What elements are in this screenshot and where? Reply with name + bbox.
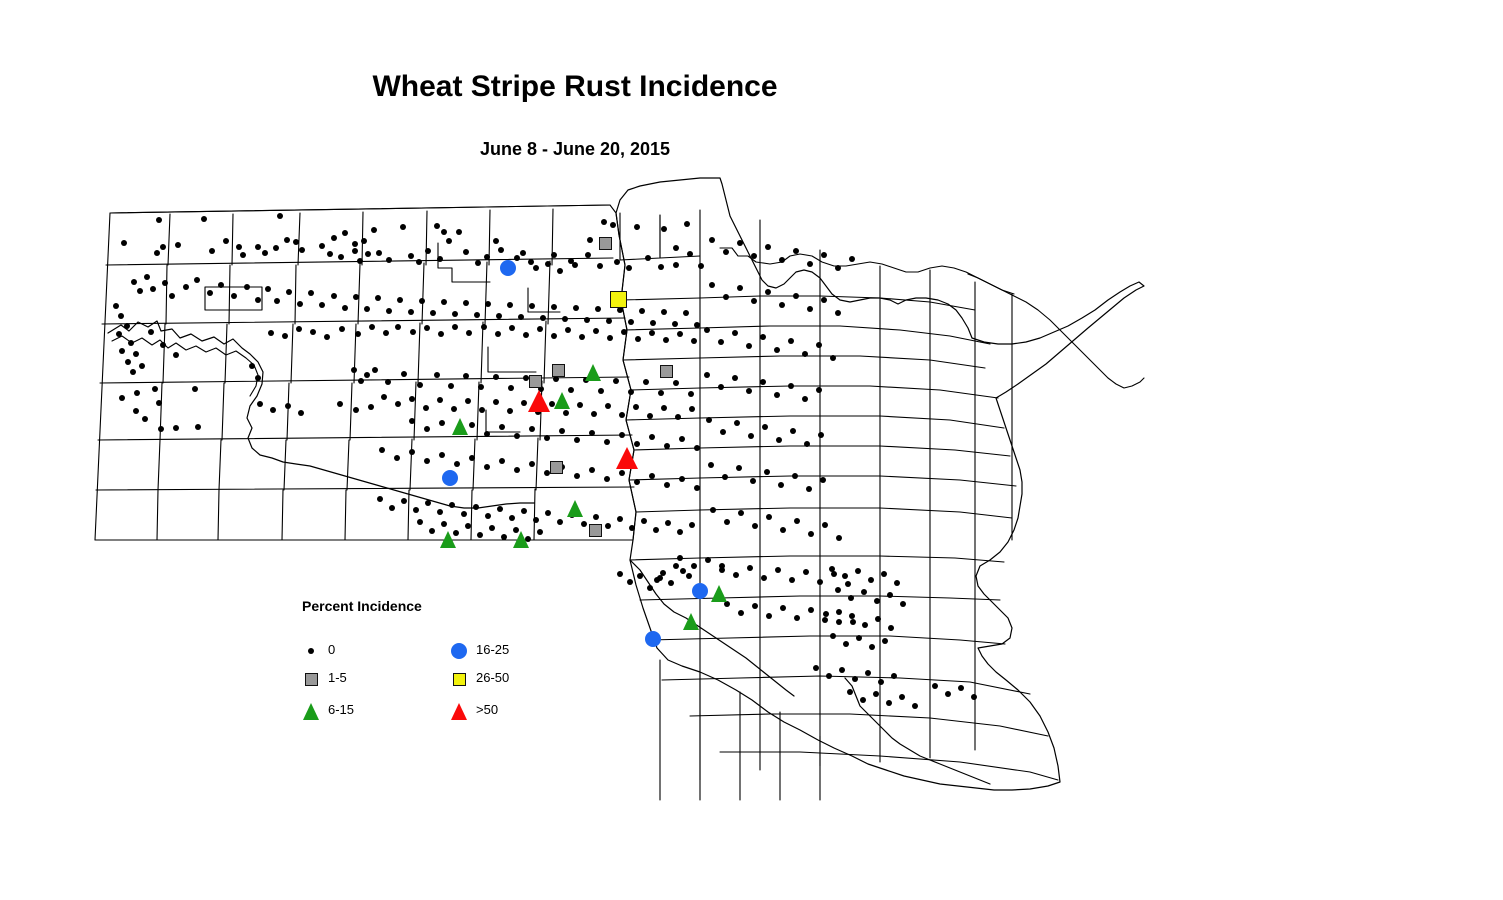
incidence-point-zero[interactable] xyxy=(619,432,625,438)
incidence-point-zero[interactable] xyxy=(891,673,897,679)
incidence-point-zero[interactable] xyxy=(595,306,601,312)
incidence-point-zero[interactable] xyxy=(589,430,595,436)
incidence-point-zero[interactable] xyxy=(788,383,794,389)
incidence-point-zero[interactable] xyxy=(265,286,271,292)
incidence-point-zero[interactable] xyxy=(765,289,771,295)
incidence-point-zero[interactable] xyxy=(463,249,469,255)
incidence-point-zero[interactable] xyxy=(752,523,758,529)
incidence-point-zero[interactable] xyxy=(847,689,853,695)
incidence-point-zero[interactable] xyxy=(776,437,782,443)
incidence-point-zero[interactable] xyxy=(327,251,333,257)
incidence-point-zero[interactable] xyxy=(268,330,274,336)
incidence-point-zero[interactable] xyxy=(593,514,599,520)
incidence-point-zero[interactable] xyxy=(353,407,359,413)
incidence-point-zero[interactable] xyxy=(822,617,828,623)
incidence-point-zero[interactable] xyxy=(900,601,906,607)
incidence-marker-1-5-icon[interactable] xyxy=(550,461,563,474)
incidence-point-zero[interactable] xyxy=(720,429,726,435)
incidence-point-zero[interactable] xyxy=(255,244,261,250)
incidence-marker-1-5-icon[interactable] xyxy=(589,524,602,537)
incidence-point-zero[interactable] xyxy=(689,406,695,412)
incidence-point-zero[interactable] xyxy=(849,256,855,262)
incidence-point-zero[interactable] xyxy=(400,224,406,230)
incidence-point-zero[interactable] xyxy=(381,394,387,400)
incidence-point-zero[interactable] xyxy=(591,411,597,417)
incidence-point-zero[interactable] xyxy=(160,342,166,348)
incidence-point-zero[interactable] xyxy=(419,298,425,304)
incidence-point-zero[interactable] xyxy=(417,519,423,525)
incidence-point-zero[interactable] xyxy=(836,609,842,615)
incidence-point-zero[interactable] xyxy=(873,691,879,697)
incidence-point-zero[interactable] xyxy=(156,217,162,223)
incidence-marker-6-15-icon[interactable] xyxy=(711,585,727,602)
incidence-point-zero[interactable] xyxy=(605,403,611,409)
incidence-point-zero[interactable] xyxy=(888,625,894,631)
incidence-point-zero[interactable] xyxy=(409,396,415,402)
incidence-point-zero[interactable] xyxy=(389,505,395,511)
incidence-point-zero[interactable] xyxy=(606,318,612,324)
incidence-point-zero[interactable] xyxy=(401,498,407,504)
incidence-point-zero[interactable] xyxy=(601,219,607,225)
incidence-point-zero[interactable] xyxy=(514,467,520,473)
incidence-point-zero[interactable] xyxy=(262,250,268,256)
incidence-point-zero[interactable] xyxy=(672,321,678,327)
incidence-point-zero[interactable] xyxy=(807,261,813,267)
incidence-point-zero[interactable] xyxy=(664,482,670,488)
incidence-point-zero[interactable] xyxy=(738,610,744,616)
incidence-point-zero[interactable] xyxy=(686,573,692,579)
incidence-point-zero[interactable] xyxy=(424,426,430,432)
incidence-point-zero[interactable] xyxy=(843,641,849,647)
incidence-point-zero[interactable] xyxy=(429,528,435,534)
incidence-marker-1-5-icon[interactable] xyxy=(552,364,565,377)
incidence-point-zero[interactable] xyxy=(376,250,382,256)
incidence-point-zero[interactable] xyxy=(807,306,813,312)
incidence-point-zero[interactable] xyxy=(680,568,686,574)
incidence-point-zero[interactable] xyxy=(553,376,559,382)
incidence-point-zero[interactable] xyxy=(780,527,786,533)
incidence-point-zero[interactable] xyxy=(645,255,651,261)
incidence-point-zero[interactable] xyxy=(514,255,520,261)
incidence-point-zero[interactable] xyxy=(131,279,137,285)
incidence-point-zero[interactable] xyxy=(121,240,127,246)
incidence-point-zero[interactable] xyxy=(684,221,690,227)
incidence-marker-16-25-icon[interactable] xyxy=(692,583,708,599)
incidence-point-zero[interactable] xyxy=(653,527,659,533)
incidence-point-zero[interactable] xyxy=(441,229,447,235)
incidence-point-zero[interactable] xyxy=(173,352,179,358)
incidence-point-zero[interactable] xyxy=(342,230,348,236)
incidence-point-zero[interactable] xyxy=(551,304,557,310)
incidence-point-zero[interactable] xyxy=(657,575,663,581)
incidence-point-zero[interactable] xyxy=(449,502,455,508)
incidence-point-zero[interactable] xyxy=(401,371,407,377)
incidence-point-zero[interactable] xyxy=(793,248,799,254)
incidence-point-zero[interactable] xyxy=(709,237,715,243)
incidence-point-zero[interactable] xyxy=(385,379,391,385)
incidence-point-zero[interactable] xyxy=(310,329,316,335)
incidence-point-zero[interactable] xyxy=(878,679,884,685)
incidence-point-zero[interactable] xyxy=(694,485,700,491)
legend-entry-1-5[interactable]: 1-5 xyxy=(298,666,438,692)
incidence-point-zero[interactable] xyxy=(173,425,179,431)
incidence-point-zero[interactable] xyxy=(417,382,423,388)
incidence-point-zero[interactable] xyxy=(371,227,377,233)
incidence-point-zero[interactable] xyxy=(780,605,786,611)
incidence-point-zero[interactable] xyxy=(861,589,867,595)
incidence-point-zero[interactable] xyxy=(751,253,757,259)
incidence-point-zero[interactable] xyxy=(604,439,610,445)
incidence-point-zero[interactable] xyxy=(639,308,645,314)
incidence-point-zero[interactable] xyxy=(416,259,422,265)
incidence-point-zero[interactable] xyxy=(687,251,693,257)
incidence-point-zero[interactable] xyxy=(331,235,337,241)
incidence-marker-16-25-icon[interactable] xyxy=(645,631,661,647)
incidence-point-zero[interactable] xyxy=(899,694,905,700)
incidence-point-zero[interactable] xyxy=(244,284,250,290)
incidence-point-zero[interactable] xyxy=(119,348,125,354)
incidence-point-zero[interactable] xyxy=(842,573,848,579)
incidence-point-zero[interactable] xyxy=(836,619,842,625)
incidence-point-zero[interactable] xyxy=(734,420,740,426)
incidence-point-zero[interactable] xyxy=(629,525,635,531)
incidence-point-zero[interactable] xyxy=(746,343,752,349)
incidence-point-zero[interactable] xyxy=(573,305,579,311)
incidence-point-zero[interactable] xyxy=(665,520,671,526)
incidence-point-zero[interactable] xyxy=(557,268,563,274)
incidence-point-zero[interactable] xyxy=(528,259,534,265)
incidence-point-zero[interactable] xyxy=(705,557,711,563)
incidence-point-zero[interactable] xyxy=(658,264,664,270)
incidence-point-zero[interactable] xyxy=(319,302,325,308)
incidence-point-zero[interactable] xyxy=(822,522,828,528)
incidence-point-zero[interactable] xyxy=(855,568,861,574)
incidence-point-zero[interactable] xyxy=(945,691,951,697)
incidence-point-zero[interactable] xyxy=(849,613,855,619)
incidence-point-zero[interactable] xyxy=(587,237,593,243)
incidence-point-zero[interactable] xyxy=(661,405,667,411)
incidence-point-zero[interactable] xyxy=(732,375,738,381)
incidence-point-zero[interactable] xyxy=(499,458,505,464)
incidence-point-zero[interactable] xyxy=(394,455,400,461)
incidence-point-zero[interactable] xyxy=(718,384,724,390)
incidence-point-zero[interactable] xyxy=(673,380,679,386)
incidence-point-zero[interactable] xyxy=(641,518,647,524)
incidence-point-zero[interactable] xyxy=(544,435,550,441)
incidence-point-zero[interactable] xyxy=(139,363,145,369)
incidence-point-zero[interactable] xyxy=(574,473,580,479)
incidence-point-zero[interactable] xyxy=(679,476,685,482)
incidence-point-zero[interactable] xyxy=(633,404,639,410)
incidence-point-zero[interactable] xyxy=(808,531,814,537)
incidence-point-zero[interactable] xyxy=(732,330,738,336)
incidence-point-zero[interactable] xyxy=(162,280,168,286)
incidence-point-zero[interactable] xyxy=(337,401,343,407)
incidence-point-zero[interactable] xyxy=(852,676,858,682)
incidence-point-zero[interactable] xyxy=(423,405,429,411)
incidence-point-zero[interactable] xyxy=(282,333,288,339)
incidence-point-zero[interactable] xyxy=(361,238,367,244)
incidence-point-zero[interactable] xyxy=(257,401,263,407)
incidence-point-zero[interactable] xyxy=(823,611,829,617)
incidence-point-zero[interactable] xyxy=(507,408,513,414)
incidence-point-zero[interactable] xyxy=(379,447,385,453)
incidence-point-zero[interactable] xyxy=(820,477,826,483)
incidence-point-zero[interactable] xyxy=(175,242,181,248)
incidence-point-zero[interactable] xyxy=(324,334,330,340)
incidence-point-zero[interactable] xyxy=(255,375,261,381)
incidence-point-zero[interactable] xyxy=(493,374,499,380)
incidence-point-zero[interactable] xyxy=(677,331,683,337)
incidence-point-zero[interactable] xyxy=(413,507,419,513)
incidence-point-zero[interactable] xyxy=(689,522,695,528)
incidence-marker-6-15-icon[interactable] xyxy=(585,364,601,381)
incidence-point-zero[interactable] xyxy=(792,473,798,479)
incidence-point-zero[interactable] xyxy=(355,331,361,337)
incidence-point-zero[interactable] xyxy=(364,372,370,378)
incidence-point-zero[interactable] xyxy=(647,413,653,419)
incidence-point-zero[interactable] xyxy=(563,410,569,416)
incidence-point-zero[interactable] xyxy=(746,388,752,394)
incidence-point-zero[interactable] xyxy=(148,329,154,335)
incidence-point-zero[interactable] xyxy=(565,327,571,333)
incidence-point-zero[interactable] xyxy=(358,378,364,384)
incidence-point-zero[interactable] xyxy=(377,496,383,502)
incidence-point-zero[interactable] xyxy=(425,248,431,254)
incidence-point-zero[interactable] xyxy=(619,470,625,476)
incidence-point-zero[interactable] xyxy=(448,383,454,389)
incidence-point-zero[interactable] xyxy=(802,396,808,402)
incidence-point-zero[interactable] xyxy=(868,577,874,583)
incidence-point-zero[interactable] xyxy=(724,519,730,525)
incidence-point-zero[interactable] xyxy=(710,507,716,513)
incidence-point-zero[interactable] xyxy=(634,479,640,485)
incidence-point-zero[interactable] xyxy=(762,424,768,430)
incidence-point-zero[interactable] xyxy=(643,379,649,385)
incidence-point-zero[interactable] xyxy=(607,335,613,341)
incidence-marker-6-15-icon[interactable] xyxy=(554,392,570,409)
incidence-point-zero[interactable] xyxy=(386,308,392,314)
incidence-point-zero[interactable] xyxy=(830,355,836,361)
incidence-point-zero[interactable] xyxy=(521,400,527,406)
incidence-point-zero[interactable] xyxy=(508,385,514,391)
incidence-point-zero[interactable] xyxy=(598,388,604,394)
incidence-point-zero[interactable] xyxy=(386,257,392,263)
incidence-point-zero[interactable] xyxy=(865,670,871,676)
incidence-point-zero[interactable] xyxy=(551,333,557,339)
incidence-point-zero[interactable] xyxy=(649,473,655,479)
incidence-point-zero[interactable] xyxy=(860,697,866,703)
incidence-point-zero[interactable] xyxy=(160,244,166,250)
incidence-point-zero[interactable] xyxy=(816,342,822,348)
incidence-point-zero[interactable] xyxy=(473,504,479,510)
incidence-point-zero[interactable] xyxy=(223,238,229,244)
incidence-point-zero[interactable] xyxy=(286,289,292,295)
incidence-point-zero[interactable] xyxy=(150,286,156,292)
incidence-point-zero[interactable] xyxy=(441,521,447,527)
incidence-point-zero[interactable] xyxy=(766,613,772,619)
incidence-point-zero[interactable] xyxy=(829,566,835,572)
incidence-point-zero[interactable] xyxy=(794,615,800,621)
incidence-point-zero[interactable] xyxy=(133,408,139,414)
incidence-point-zero[interactable] xyxy=(124,323,130,329)
incidence-point-zero[interactable] xyxy=(848,595,854,601)
incidence-point-zero[interactable] xyxy=(274,298,280,304)
incidence-point-zero[interactable] xyxy=(760,334,766,340)
incidence-point-zero[interactable] xyxy=(156,400,162,406)
incidence-point-zero[interactable] xyxy=(195,424,201,430)
incidence-point-zero[interactable] xyxy=(605,523,611,529)
incidence-point-zero[interactable] xyxy=(737,240,743,246)
incidence-point-zero[interactable] xyxy=(856,635,862,641)
incidence-point-zero[interactable] xyxy=(236,244,242,250)
incidence-point-zero[interactable] xyxy=(649,330,655,336)
incidence-point-zero[interactable] xyxy=(593,328,599,334)
incidence-point-zero[interactable] xyxy=(395,324,401,330)
incidence-point-zero[interactable] xyxy=(465,398,471,404)
incidence-point-zero[interactable] xyxy=(452,311,458,317)
incidence-point-zero[interactable] xyxy=(581,521,587,527)
incidence-point-zero[interactable] xyxy=(658,390,664,396)
incidence-point-zero[interactable] xyxy=(308,290,314,296)
incidence-point-zero[interactable] xyxy=(821,252,827,258)
incidence-point-zero[interactable] xyxy=(802,351,808,357)
incidence-point-zero[interactable] xyxy=(597,263,603,269)
incidence-point-zero[interactable] xyxy=(489,525,495,531)
incidence-point-zero[interactable] xyxy=(154,250,160,256)
incidence-point-zero[interactable] xyxy=(724,601,730,607)
incidence-marker--50-icon[interactable] xyxy=(528,390,550,412)
incidence-point-zero[interactable] xyxy=(497,506,503,512)
incidence-point-zero[interactable] xyxy=(650,320,656,326)
incidence-point-zero[interactable] xyxy=(619,412,625,418)
incidence-point-zero[interactable] xyxy=(751,298,757,304)
legend-entry-16-25[interactable]: 16-25 xyxy=(446,638,586,664)
incidence-point-zero[interactable] xyxy=(441,299,447,305)
incidence-point-zero[interactable] xyxy=(589,467,595,473)
incidence-point-zero[interactable] xyxy=(331,293,337,299)
incidence-marker-6-15-icon[interactable] xyxy=(683,613,699,630)
incidence-point-zero[interactable] xyxy=(249,363,255,369)
incidence-point-zero[interactable] xyxy=(708,462,714,468)
incidence-point-zero[interactable] xyxy=(760,379,766,385)
incidence-point-zero[interactable] xyxy=(845,581,851,587)
incidence-point-zero[interactable] xyxy=(130,369,136,375)
incidence-point-zero[interactable] xyxy=(501,534,507,540)
incidence-point-zero[interactable] xyxy=(709,282,715,288)
incidence-point-zero[interactable] xyxy=(119,395,125,401)
incidence-point-zero[interactable] xyxy=(559,428,565,434)
incidence-point-zero[interactable] xyxy=(514,433,520,439)
incidence-point-zero[interactable] xyxy=(452,324,458,330)
incidence-point-zero[interactable] xyxy=(372,367,378,373)
incidence-point-zero[interactable] xyxy=(647,585,653,591)
incidence-point-zero[interactable] xyxy=(704,327,710,333)
incidence-point-zero[interactable] xyxy=(240,252,246,258)
incidence-marker-6-15-icon[interactable] xyxy=(567,500,583,517)
incidence-point-zero[interactable] xyxy=(351,367,357,373)
incidence-point-zero[interactable] xyxy=(439,452,445,458)
incidence-point-zero[interactable] xyxy=(383,330,389,336)
incidence-point-zero[interactable] xyxy=(722,474,728,480)
incidence-point-zero[interactable] xyxy=(816,387,822,393)
incidence-point-zero[interactable] xyxy=(368,404,374,410)
incidence-point-zero[interactable] xyxy=(479,407,485,413)
incidence-point-zero[interactable] xyxy=(628,389,634,395)
incidence-point-zero[interactable] xyxy=(723,249,729,255)
incidence-point-zero[interactable] xyxy=(617,516,623,522)
incidence-point-zero[interactable] xyxy=(875,616,881,622)
incidence-point-zero[interactable] xyxy=(818,432,824,438)
incidence-point-zero[interactable] xyxy=(835,587,841,593)
incidence-point-zero[interactable] xyxy=(850,619,856,625)
incidence-point-zero[interactable] xyxy=(748,433,754,439)
incidence-point-zero[interactable] xyxy=(338,254,344,260)
incidence-point-zero[interactable] xyxy=(509,325,515,331)
incidence-point-zero[interactable] xyxy=(761,575,767,581)
incidence-point-zero[interactable] xyxy=(273,245,279,251)
incidence-point-zero[interactable] xyxy=(496,313,502,319)
incidence-point-zero[interactable] xyxy=(723,294,729,300)
incidence-point-zero[interactable] xyxy=(779,302,785,308)
incidence-point-zero[interactable] xyxy=(369,324,375,330)
incidence-marker-26-50-icon[interactable] xyxy=(610,291,627,308)
incidence-point-zero[interactable] xyxy=(794,518,800,524)
incidence-point-zero[interactable] xyxy=(804,441,810,447)
incidence-point-zero[interactable] xyxy=(626,265,632,271)
incidence-point-zero[interactable] xyxy=(585,252,591,258)
incidence-point-zero[interactable] xyxy=(698,263,704,269)
incidence-point-zero[interactable] xyxy=(971,694,977,700)
incidence-marker-16-25-icon[interactable] xyxy=(442,470,458,486)
incidence-point-zero[interactable] xyxy=(545,510,551,516)
incidence-point-zero[interactable] xyxy=(270,407,276,413)
incidence-point-zero[interactable] xyxy=(750,478,756,484)
incidence-point-zero[interactable] xyxy=(495,331,501,337)
incidence-point-zero[interactable] xyxy=(572,262,578,268)
incidence-point-zero[interactable] xyxy=(806,486,812,492)
incidence-point-zero[interactable] xyxy=(604,476,610,482)
incidence-point-zero[interactable] xyxy=(912,703,918,709)
incidence-point-zero[interactable] xyxy=(617,571,623,577)
incidence-point-zero[interactable] xyxy=(192,386,198,392)
incidence-point-zero[interactable] xyxy=(826,673,832,679)
incidence-point-zero[interactable] xyxy=(456,229,462,235)
incidence-point-zero[interactable] xyxy=(778,482,784,488)
incidence-point-zero[interactable] xyxy=(142,416,148,422)
incidence-point-zero[interactable] xyxy=(342,305,348,311)
incidence-point-zero[interactable] xyxy=(507,302,513,308)
incidence-point-zero[interactable] xyxy=(299,247,305,253)
incidence-point-zero[interactable] xyxy=(882,638,888,644)
incidence-point-zero[interactable] xyxy=(788,338,794,344)
incidence-point-zero[interactable] xyxy=(352,241,358,247)
incidence-point-zero[interactable] xyxy=(207,290,213,296)
incidence-point-zero[interactable] xyxy=(664,443,670,449)
incidence-point-zero[interactable] xyxy=(779,257,785,263)
incidence-point-zero[interactable] xyxy=(469,455,475,461)
incidence-point-zero[interactable] xyxy=(635,336,641,342)
incidence-point-zero[interactable] xyxy=(194,277,200,283)
incidence-point-zero[interactable] xyxy=(474,312,480,318)
incidence-point-zero[interactable] xyxy=(438,331,444,337)
incidence-point-zero[interactable] xyxy=(434,223,440,229)
incidence-point-zero[interactable] xyxy=(451,406,457,412)
incidence-point-zero[interactable] xyxy=(775,567,781,573)
incidence-point-zero[interactable] xyxy=(434,372,440,378)
incidence-point-zero[interactable] xyxy=(437,509,443,515)
incidence-point-zero[interactable] xyxy=(691,563,697,569)
